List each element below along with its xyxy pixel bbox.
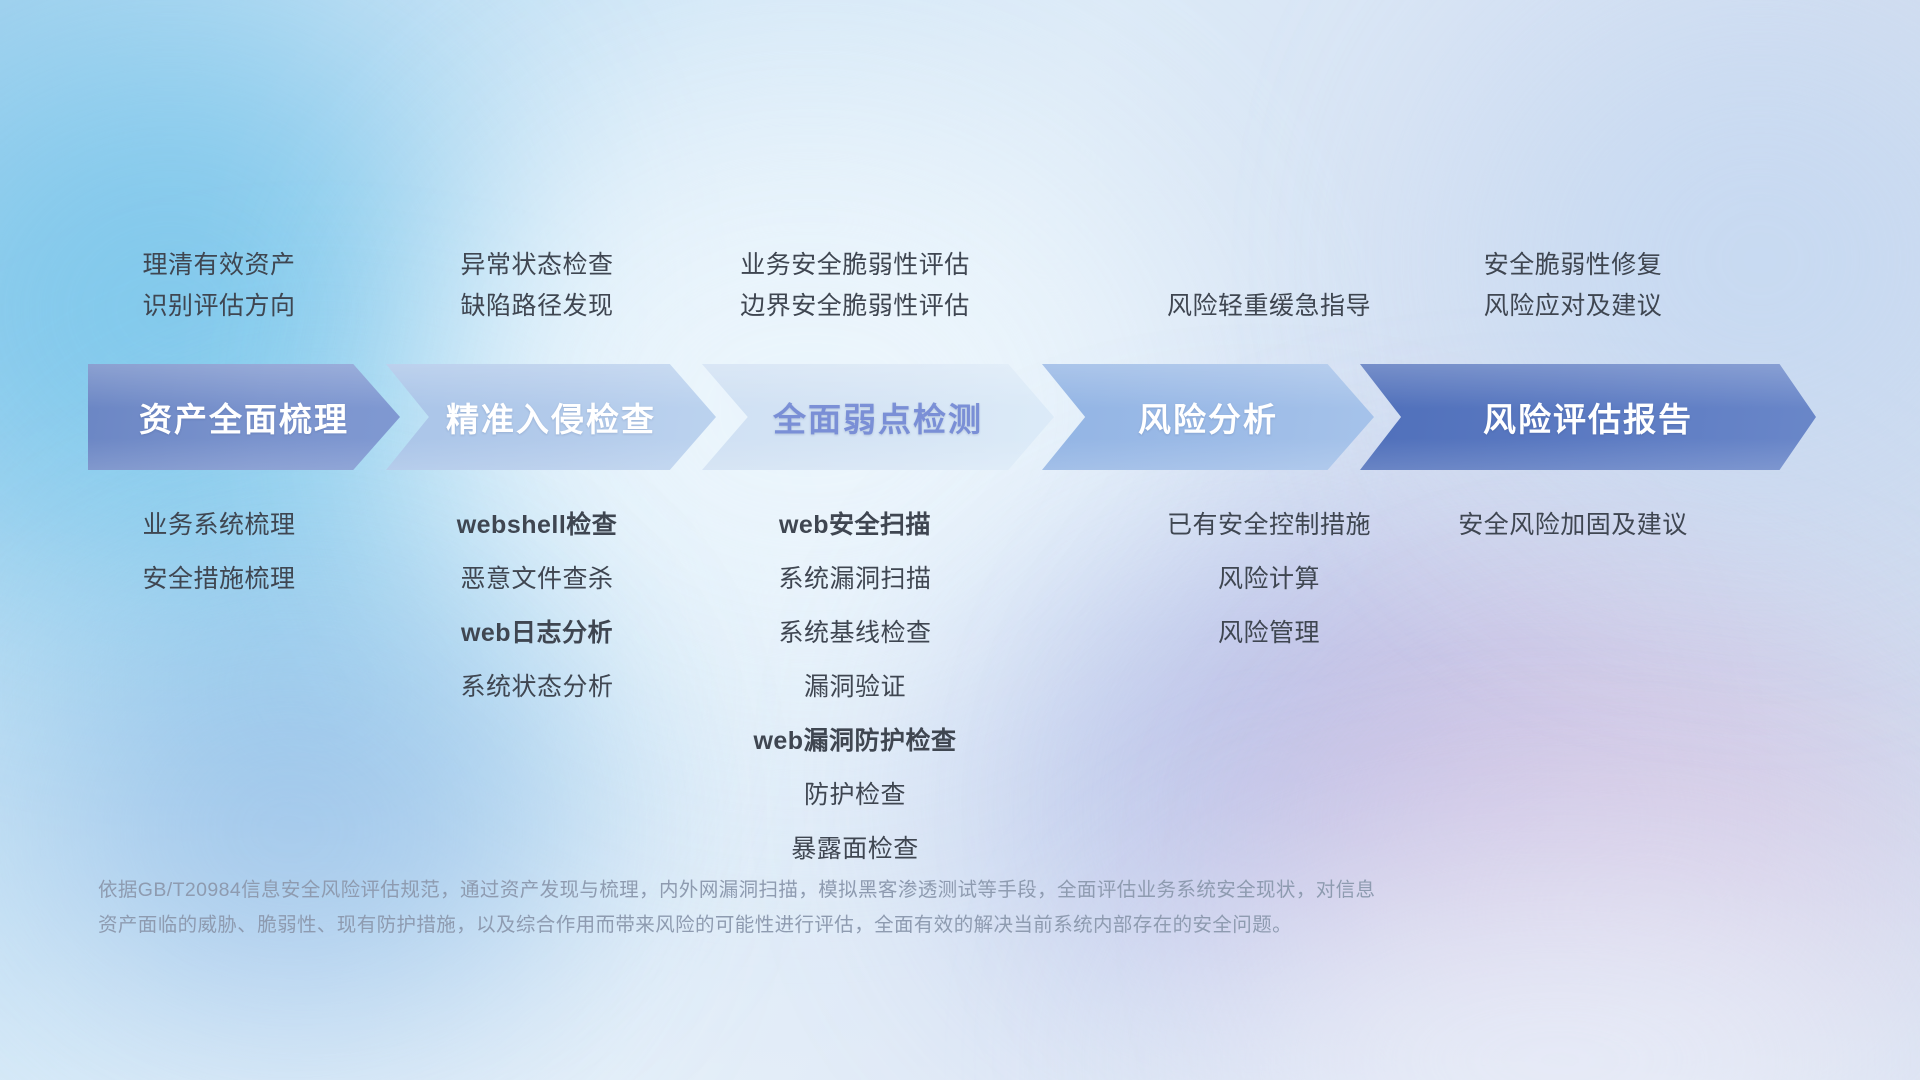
- outcome-item: 业务安全脆弱性评估: [706, 245, 1004, 286]
- summary-paragraph: 依据GB/T20984信息安全风险评估规范，通过资产发现与梳理，内外网漏洞扫描，…: [98, 873, 1638, 942]
- stage-activities-risk-report: 安全风险加固及建议: [1424, 505, 1722, 559]
- activity-item: 漏洞验证: [706, 667, 1004, 707]
- summary-line-2: 资产面临的威胁、脆弱性、现有防护措施，以及综合作用而带来风险的可能性进行评估，全…: [98, 908, 1638, 943]
- stage-outcomes-intrusion-check: 异常状态检查缺陷路径发现: [388, 245, 686, 326]
- stage-title-risk-report: 风险评估报告: [1483, 393, 1693, 441]
- activity-item: 安全风险加固及建议: [1424, 505, 1722, 545]
- stage-activities-risk-analysis: 已有安全控制措施风险计算风险管理: [1120, 505, 1418, 667]
- stage-chevron-band: 资产全面梳理 精准入侵检查 全面弱点检测 风险分析 风险评估报告: [0, 364, 1920, 470]
- outcome-item: 缺陷路径发现: [388, 286, 686, 327]
- stage-outcomes-asset-inventory: 理清有效资产识别评估方向: [70, 245, 368, 326]
- stage-outcomes-risk-analysis: 风险轻重缓急指导: [1120, 286, 1418, 327]
- activity-item: 暴露面检查: [706, 829, 1004, 869]
- stage-chevron-risk-analysis[interactable]: 风险分析: [1042, 364, 1374, 470]
- activity-item: web漏洞防护检查: [706, 721, 1004, 761]
- outcome-item: 异常状态检查: [388, 245, 686, 286]
- activity-item: 恶意文件查杀: [388, 559, 686, 599]
- stage-outcomes-weakness-detection: 业务安全脆弱性评估边界安全脆弱性评估: [706, 245, 1004, 326]
- activity-item: webshell检查: [388, 505, 686, 545]
- activity-item: 系统基线检查: [706, 613, 1004, 653]
- activity-item: web安全扫描: [706, 505, 1004, 545]
- stage-chevron-intrusion-check[interactable]: 精准入侵检查: [386, 364, 716, 470]
- stage-outcomes-risk-report: 安全脆弱性修复风险应对及建议: [1424, 245, 1722, 326]
- activity-item: 风险计算: [1120, 559, 1418, 599]
- stage-outcomes-row: 理清有效资产识别评估方向 异常状态检查缺陷路径发现 业务安全脆弱性评估边界安全脆…: [0, 230, 1920, 340]
- stage-activities-row: 业务系统梳理安全措施梳理 webshell检查恶意文件查杀web日志分析系统状态…: [0, 505, 1920, 855]
- outcome-item: 风险轻重缓急指导: [1120, 286, 1418, 327]
- activity-item: 防护检查: [706, 775, 1004, 815]
- stage-activities-weakness-detection: web安全扫描系统漏洞扫描系统基线检查漏洞验证web漏洞防护检查防护检查暴露面检…: [706, 505, 1004, 883]
- outcome-item: 安全脆弱性修复: [1424, 245, 1722, 286]
- activity-item: 系统漏洞扫描: [706, 559, 1004, 599]
- stage-title-risk-analysis: 风险分析: [1138, 393, 1278, 441]
- stage-title-weakness-detection: 全面弱点检测: [773, 393, 983, 441]
- outcome-item: 识别评估方向: [70, 286, 368, 327]
- activity-item: 系统状态分析: [388, 667, 686, 707]
- outcome-item: 理清有效资产: [70, 245, 368, 286]
- activity-item: 业务系统梳理: [70, 505, 368, 545]
- activity-item: 安全措施梳理: [70, 559, 368, 599]
- summary-line-1: 依据GB/T20984信息安全风险评估规范，通过资产发现与梳理，内外网漏洞扫描，…: [98, 873, 1638, 908]
- activity-item: 已有安全控制措施: [1120, 505, 1418, 545]
- stage-chevron-asset-inventory[interactable]: 资产全面梳理: [88, 364, 400, 470]
- stage-chevron-risk-report[interactable]: 风险评估报告: [1360, 364, 1816, 470]
- outcome-item: 边界安全脆弱性评估: [706, 286, 1004, 327]
- stage-activities-intrusion-check: webshell检查恶意文件查杀web日志分析系统状态分析: [388, 505, 686, 721]
- stage-activities-asset-inventory: 业务系统梳理安全措施梳理: [70, 505, 368, 613]
- stage-title-asset-inventory: 资产全面梳理: [139, 393, 349, 441]
- stage-chevron-weakness-detection[interactable]: 全面弱点检测: [702, 364, 1054, 470]
- outcome-item: 风险应对及建议: [1424, 286, 1722, 327]
- activity-item: 风险管理: [1120, 613, 1418, 653]
- activity-item: web日志分析: [388, 613, 686, 653]
- process-flow-diagram: 理清有效资产识别评估方向 异常状态检查缺陷路径发现 业务安全脆弱性评估边界安全脆…: [0, 0, 1920, 1080]
- stage-title-intrusion-check: 精准入侵检查: [446, 393, 656, 441]
